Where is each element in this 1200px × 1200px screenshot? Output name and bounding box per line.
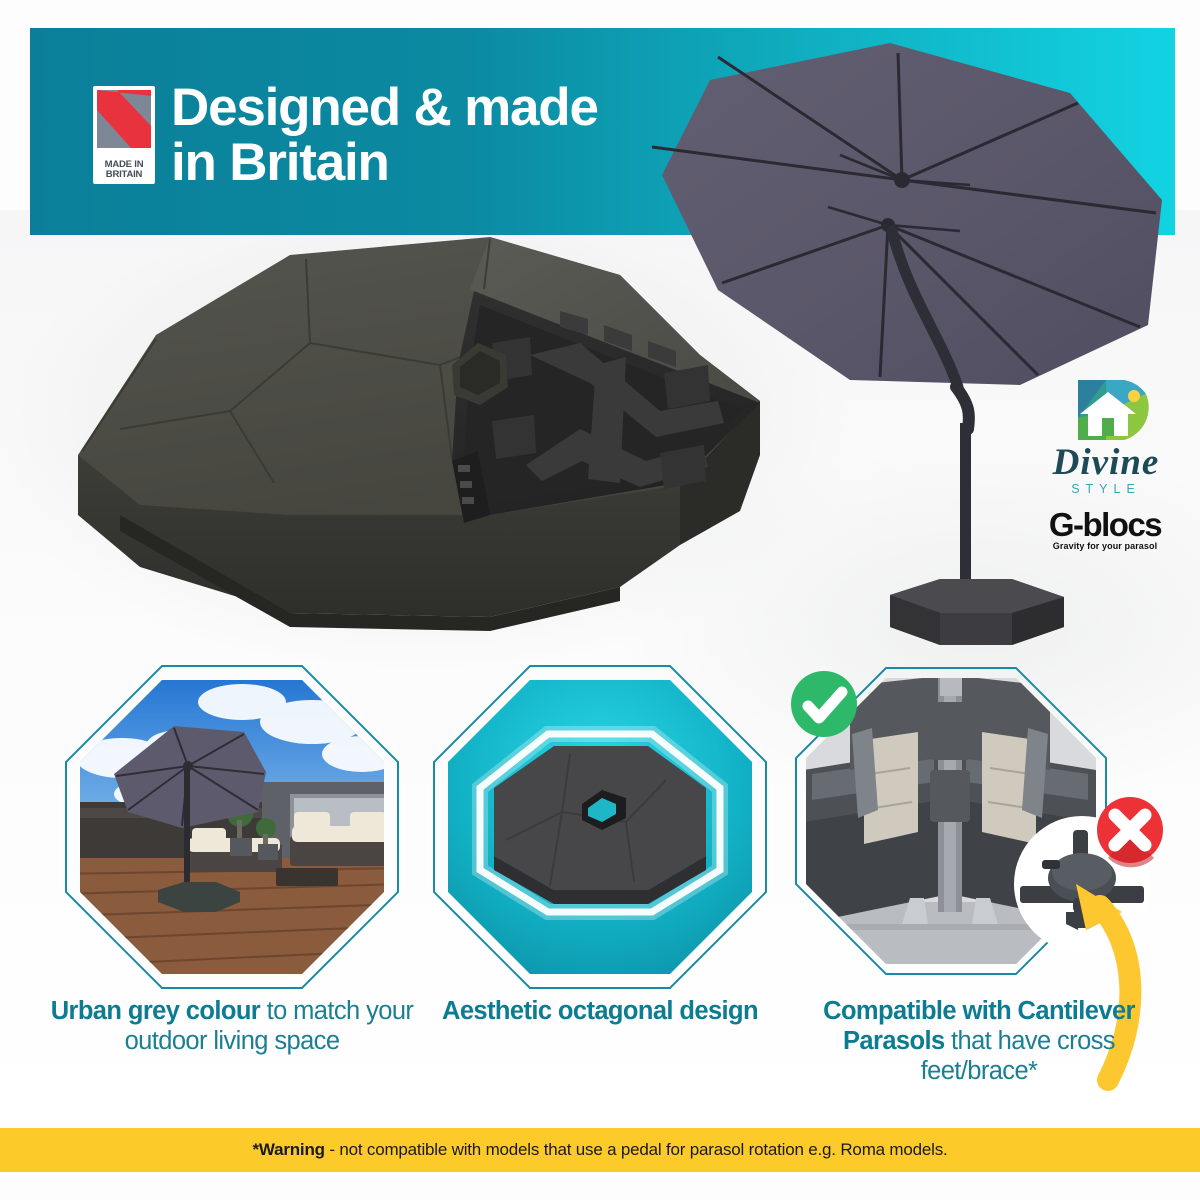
feature-caption-2: Aesthetic octagonal design: [416, 997, 784, 1027]
divine-style-sub: STYLE: [1036, 482, 1176, 496]
divine-style-logo: Divine STYLE: [1036, 382, 1176, 502]
warning-bar: *Warning - not compatible with models th…: [0, 1128, 1200, 1172]
g-blocs-logo: G-blocs Gravity for your parasol: [1030, 508, 1180, 560]
feature-caption-3-rest: that have cross feet/brace*: [921, 1027, 1115, 1085]
feature-caption-1: Urban grey colour to match your outdoor …: [48, 997, 416, 1057]
green-check-badge: [791, 671, 857, 737]
octagonal-parasol-base-hero: [60, 215, 800, 665]
feature-caption-2-bold: Aesthetic octagonal design: [442, 997, 758, 1025]
divine-wordmark: Divine: [1036, 444, 1176, 481]
warning-label: *Warning: [252, 1140, 324, 1159]
g-blocs-wordmark: G-blocs: [1030, 508, 1180, 541]
feature-panel-cantilever-compatible: Compatible with Cantilever Parasols that…: [790, 662, 1130, 992]
made-in-britain-label: MADE IN BRITAIN: [93, 160, 155, 181]
marketing-infographic: MADE IN BRITAIN Designed & made in Brita…: [0, 0, 1200, 1200]
made-in-britain-logo: MADE IN BRITAIN: [93, 86, 155, 184]
warning-body: - not compatible with models that use a …: [325, 1140, 948, 1159]
g-blocs-tagline: Gravity for your parasol: [1030, 541, 1180, 551]
feature-caption-1-bold: Urban grey colour: [51, 997, 260, 1025]
warning-text: *Warning - not compatible with models th…: [252, 1140, 947, 1160]
feature-panel-urban-grey: Urban grey colour to match your outdoor …: [62, 662, 402, 992]
union-arrow-icon: [97, 90, 151, 148]
feature-panel-octagonal-design: Aesthetic octagonal design: [430, 662, 770, 992]
feature-caption-3: Compatible with Cantilever Parasols that…: [790, 997, 1168, 1086]
